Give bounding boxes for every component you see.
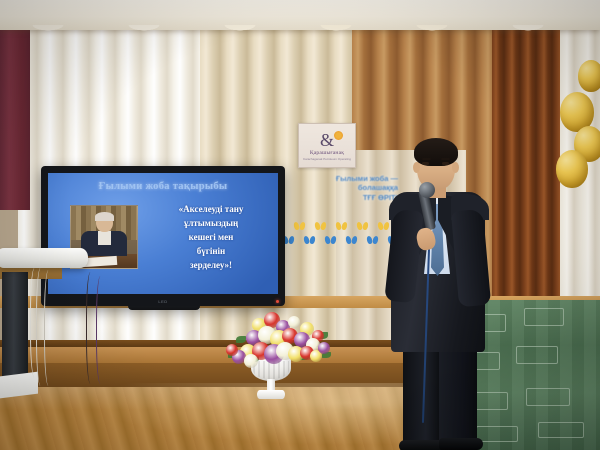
butterfly-icon	[336, 222, 347, 230]
lectern-top	[0, 248, 88, 268]
eyebrow-left	[422, 158, 431, 160]
cable	[96, 276, 107, 384]
slide-title: Ғылыми жоба тақырыбы	[48, 181, 278, 192]
tv-screen: Ғылыми жоба тақырыбы «Акселеуді тану ұлт…	[48, 173, 278, 294]
eye-right	[442, 162, 449, 165]
butterfly-icon	[304, 236, 315, 244]
slide-line-4: бүгінін	[152, 245, 270, 259]
slide-line-1: «Акселеуді тану	[152, 203, 270, 217]
flower-leaf	[236, 336, 246, 343]
eyebrow-right	[441, 158, 450, 160]
slide-body-text: «Акселеуді тану ұлтымыздың кешегі мен бү…	[152, 203, 270, 273]
slide-line-3: кешегі мен	[152, 231, 270, 245]
butterfly-icon	[325, 236, 336, 244]
hair	[414, 138, 458, 166]
flower-bloom	[288, 316, 300, 328]
wall-text-line-2: болашаққа	[278, 183, 398, 192]
slide-line-2: ұлтымыздың	[152, 217, 270, 231]
wall-text-line-1: Ғылыми жоба —	[278, 174, 398, 183]
vase-foot	[257, 390, 285, 399]
butterfly-icon	[357, 222, 368, 230]
left-shadow	[0, 30, 24, 210]
poster-name: Қарашығанақ	[310, 150, 344, 156]
trouser-right	[439, 338, 477, 446]
ampersand-logo-icon: &	[320, 131, 334, 149]
curtain-valance	[0, 0, 600, 30]
ear-left	[413, 162, 420, 173]
eye-left	[422, 162, 429, 165]
poster-mark-glyph: &	[320, 130, 334, 150]
flower-bloom	[226, 344, 238, 356]
balloon-icon	[578, 60, 600, 92]
butterfly-icon	[294, 222, 305, 230]
slide-line-5: зерделеу»!	[152, 259, 270, 273]
flat-screen-tv: Ғылыми жоба тақырыбы «Акселеуді тану ұлт…	[41, 166, 285, 306]
photo-scene: & Қарашығанақ Karachaganak Petroleum Ope…	[0, 0, 600, 450]
shoe-right	[439, 438, 483, 450]
sun-icon	[334, 131, 343, 140]
sponsor-poster: & Қарашығанақ Karachaganak Petroleum Ope…	[298, 123, 356, 168]
flower-bloom	[318, 342, 330, 354]
photo-hair	[95, 212, 114, 221]
shoe-left	[399, 440, 443, 450]
wall-decor-text: Ғылыми жоба — болашаққа ТҒҒ ӨРІТ!	[278, 174, 398, 202]
cable	[44, 270, 55, 386]
carpet-motif	[524, 308, 564, 326]
wall-text-line-3: ТҒҒ ӨРІТ!	[278, 193, 398, 202]
presenter-person	[381, 132, 497, 450]
tv-brand-label: LED	[153, 299, 173, 304]
ear-right	[452, 162, 459, 173]
flower-bloom	[244, 354, 258, 368]
balloon-icon	[556, 150, 588, 188]
butterfly-icon	[346, 236, 357, 244]
carpet-motif	[538, 422, 584, 438]
microphone-icon	[419, 182, 435, 198]
butterfly-icon	[315, 222, 326, 230]
carpet-motif	[526, 388, 570, 406]
photo-shirt	[98, 231, 111, 245]
carpet-motif	[516, 346, 558, 364]
butterfly-icon	[367, 236, 378, 244]
power-led-icon	[276, 300, 279, 303]
poster-subtitle: Karachaganak Petroleum Operating	[303, 157, 351, 161]
